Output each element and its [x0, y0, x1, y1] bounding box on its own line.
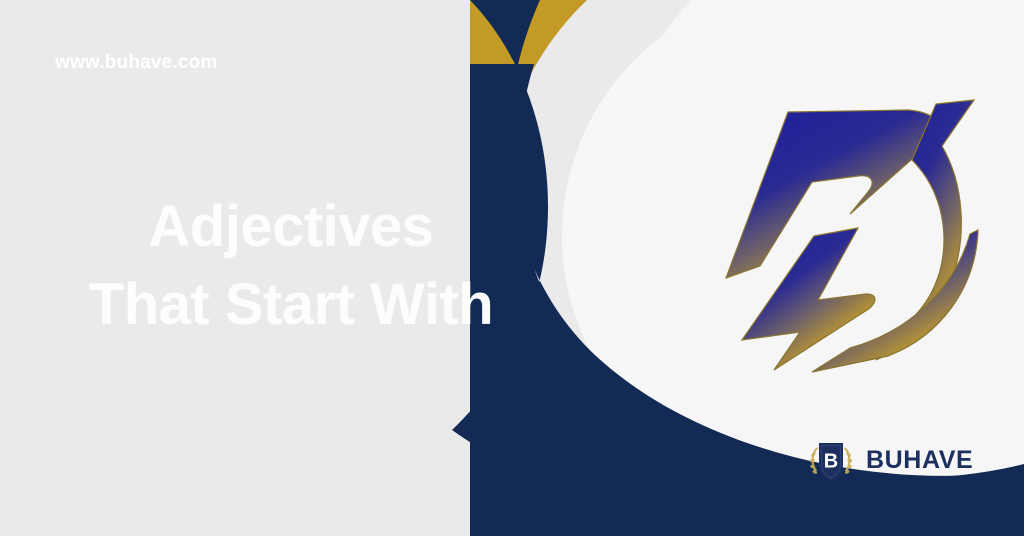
shield-letter: B: [824, 451, 838, 473]
site-url-text: www.buhave.com: [55, 52, 218, 74]
stylized-letter-d-logo: [700, 88, 1000, 384]
page-title-line-1: Adjectives: [56, 188, 526, 266]
buhave-shield-crest-icon: B: [805, 434, 857, 486]
page-title-line-2: That Start With: [56, 266, 526, 344]
page-title: Adjectives That Start With: [56, 188, 526, 343]
buhave-wordmark: BUHAVE: [866, 448, 973, 473]
buhave-logo-lockup: B BUHAVE: [805, 434, 973, 486]
banner-canvas: www.buhave.com Adjectives That Start Wit…: [0, 0, 1024, 536]
